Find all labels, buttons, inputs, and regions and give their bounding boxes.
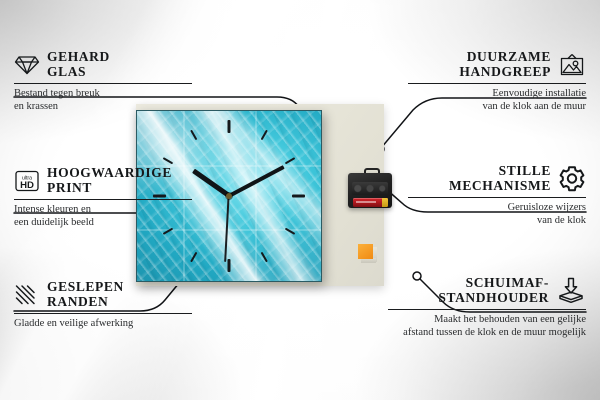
feature-divider — [388, 309, 586, 310]
clock-hand-hub — [226, 193, 232, 199]
feature-desc-line2: een duidelijk beeld — [14, 217, 192, 230]
clock-mechanism — [348, 168, 392, 208]
spacer-press-icon — [556, 277, 586, 305]
feature-desc-line1: Bestand tegen breuk — [14, 88, 192, 101]
feature-desc-line2: afstand tussen de klok en de muur mogeli… — [388, 327, 586, 340]
feature-desc-line2: van de klok — [408, 215, 586, 228]
feature-divider — [14, 313, 192, 314]
feature-header: GEHARD GLAS — [14, 50, 192, 79]
diamond-icon — [14, 54, 40, 76]
feature-header: GESLEPEN RANDEN — [14, 280, 192, 309]
feature-title: DUURZAME HANDGREEP — [459, 50, 551, 79]
mechanism-battery — [353, 198, 388, 207]
feature-title: GEHARD GLAS — [47, 50, 110, 79]
gear-icon — [558, 165, 586, 192]
infographic-canvas: GEHARD GLAS Bestand tegen breuk en krass… — [0, 0, 600, 400]
feature-geslepen-randen: GESLEPEN RANDEN Gladde en veilige afwerk… — [14, 280, 192, 331]
feature-title-line1: GEHARD — [47, 50, 110, 65]
beveled-edges-icon — [14, 283, 40, 306]
mechanism-knobs — [353, 183, 387, 194]
feature-hoogwaardige-print: ultra HD HOOGWAARDIGE PRINT Intense kleu… — [14, 166, 192, 229]
foam-spacer — [358, 244, 377, 263]
mechanism-body — [348, 173, 392, 208]
feature-title: GESLEPEN RANDEN — [47, 280, 124, 309]
picture-frame-icon — [558, 53, 586, 77]
feature-desc-line2: en krassen — [14, 101, 192, 114]
feature-desc-line1: Gladde en veilige afwerking — [14, 318, 192, 331]
feature-desc-line1: Geruisloze wijzers — [408, 202, 586, 215]
feature-title-line1: STILLE — [449, 164, 551, 179]
feature-title-line2: MECHANISME — [449, 179, 551, 194]
feature-title-line2: HANDGREEP — [459, 65, 551, 80]
ultra-hd-icon: ultra HD — [14, 169, 40, 193]
feature-divider — [14, 199, 192, 200]
feature-stille-mechanisme: STILLE MECHANISME Geruisloze wijzers van… — [408, 164, 586, 227]
feature-title-line1: SCHUIMAF- — [438, 276, 549, 291]
feature-title: SCHUIMAF- STANDHOUDER — [438, 276, 549, 305]
feature-divider — [14, 83, 192, 84]
feature-title-line1: GESLEPEN — [47, 280, 124, 295]
feature-desc-line1: Eenvoudige installatie — [408, 88, 586, 101]
feature-title: HOOGWAARDIGE PRINT — [47, 166, 172, 195]
ultra-hd-icon-large-text: HD — [20, 180, 34, 191]
feature-divider — [408, 83, 586, 84]
feature-title-line2: RANDEN — [47, 295, 124, 310]
feature-title-line1: DUURZAME — [459, 50, 551, 65]
feature-schuimafstandhouder: SCHUIMAF- STANDHOUDER Maakt het behouden… — [388, 276, 586, 339]
feature-header: SCHUIMAF- STANDHOUDER — [388, 276, 586, 305]
feature-desc-line1: Intense kleuren en — [14, 204, 192, 217]
feature-title-line2: GLAS — [47, 65, 110, 80]
feature-title: STILLE MECHANISME — [449, 164, 551, 193]
feature-title-line1: HOOGWAARDIGE — [47, 166, 172, 181]
spacer-top — [358, 244, 373, 259]
feature-desc-line1: Maakt het behouden van een gelijke — [388, 314, 586, 327]
feature-duurzame-handgreep: DUURZAME HANDGREEP Eenvoudige installati… — [408, 50, 586, 113]
feature-title-line2: PRINT — [47, 181, 172, 196]
feature-header: DUURZAME HANDGREEP — [408, 50, 586, 79]
feature-header: STILLE MECHANISME — [408, 164, 586, 193]
feature-divider — [408, 197, 586, 198]
feature-title-line2: STANDHOUDER — [438, 291, 549, 306]
feature-gehard-glas: GEHARD GLAS Bestand tegen breuk en krass… — [14, 50, 192, 113]
feature-header: ultra HD HOOGWAARDIGE PRINT — [14, 166, 192, 195]
feature-desc-line2: van de klok aan de muur — [408, 101, 586, 114]
